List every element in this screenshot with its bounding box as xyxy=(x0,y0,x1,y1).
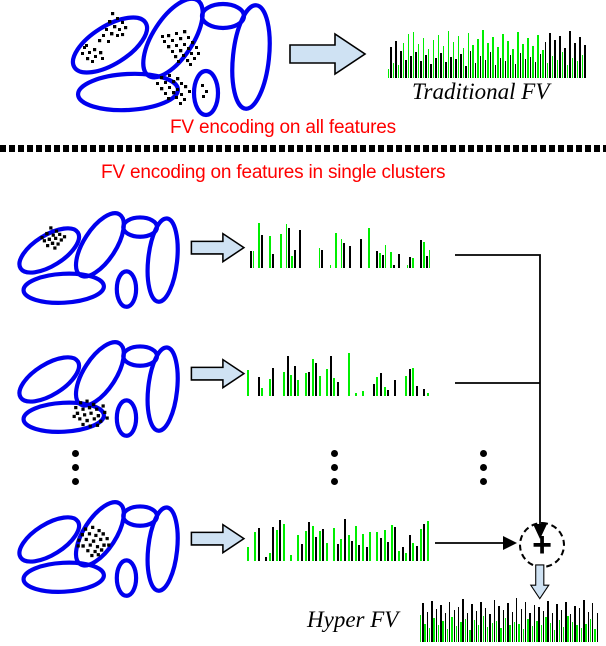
histogram-bar xyxy=(516,598,517,642)
histogram-bar xyxy=(523,629,524,642)
histogram-bar xyxy=(585,624,586,642)
histogram-bar xyxy=(442,621,443,642)
histogram-bar xyxy=(534,605,535,642)
histogram-bar xyxy=(436,609,437,642)
histogram-bar xyxy=(498,606,499,642)
histogram-bar xyxy=(420,615,421,642)
histogram-bar xyxy=(574,606,575,642)
histogram-bar xyxy=(456,626,457,642)
histogram-bar xyxy=(445,613,446,642)
label-hyper-fv: Hyper FV xyxy=(307,607,398,633)
histogram-bar xyxy=(462,599,463,642)
histogram-bar xyxy=(433,618,434,642)
histogram-bar xyxy=(509,625,510,642)
histogram-bar xyxy=(469,630,470,642)
histogram-bar xyxy=(512,612,513,642)
arrowhead-right-icon xyxy=(503,536,517,550)
block-arrow-down-icon xyxy=(522,564,558,600)
plus-circle-icon: + xyxy=(519,522,565,568)
histogram-bar xyxy=(527,619,528,642)
histogram-bar xyxy=(547,601,548,642)
histogram-bar xyxy=(474,620,475,642)
histogram-bar xyxy=(476,611,477,642)
figure-canvas: Traditional FV FV encoding on all featur… xyxy=(0,0,606,646)
histogram-bar xyxy=(438,625,439,642)
histogram-bar xyxy=(536,621,537,642)
histogram-bar xyxy=(538,607,539,642)
histogram-bar xyxy=(429,628,430,642)
histogram-bar xyxy=(590,619,591,642)
histogram-bar xyxy=(561,610,562,642)
histogram-bar xyxy=(529,613,530,642)
histogram-bar xyxy=(565,602,566,642)
histogram-bar xyxy=(579,608,580,642)
histogram-bar xyxy=(559,620,560,642)
histogram-bar xyxy=(532,626,533,642)
histogram-bar xyxy=(563,627,564,642)
histogram-bar xyxy=(541,625,542,642)
histogram-bar xyxy=(422,603,423,642)
histogram-bar xyxy=(431,601,432,642)
histogram-bar xyxy=(505,618,506,642)
histogram-bar xyxy=(458,607,459,642)
histogram-bar xyxy=(503,610,504,642)
histogram-bar xyxy=(594,629,595,642)
histogram-bar xyxy=(507,603,508,642)
histogram-bar xyxy=(487,627,488,642)
histogram-bar xyxy=(465,619,466,642)
histogram-bar xyxy=(494,600,495,642)
histogram-bar xyxy=(480,602,481,642)
histogram-bar xyxy=(478,625,479,642)
histogram-bar xyxy=(597,613,598,642)
connector-lines xyxy=(0,0,606,646)
connector-row-1 xyxy=(455,255,540,524)
histogram-bar xyxy=(556,604,557,642)
histogram-bar xyxy=(518,624,519,642)
histogram-bar xyxy=(554,630,555,642)
histogram-bar xyxy=(483,616,484,642)
histogram-bar xyxy=(485,608,486,642)
histogram-bar xyxy=(427,612,428,642)
histogram-bar xyxy=(592,603,593,642)
histogram-bar xyxy=(492,623,493,642)
histogram-bar xyxy=(500,628,501,642)
histogram-bar xyxy=(576,625,577,642)
histogram-bar xyxy=(550,623,551,642)
histogram-bar xyxy=(545,617,546,642)
histogram-bar xyxy=(581,628,582,642)
histogram-bar xyxy=(449,602,450,642)
histogram-bar xyxy=(543,611,544,642)
histogram-bar xyxy=(514,622,515,642)
histogram-bar xyxy=(521,609,522,642)
histogram-bar xyxy=(588,612,589,642)
histogram-bar xyxy=(454,610,455,642)
histogram-bar xyxy=(424,624,425,642)
histogram-bar xyxy=(467,613,468,642)
histogram-bar xyxy=(572,622,573,642)
histogram-hyper-fv xyxy=(420,596,600,642)
histogram-bar xyxy=(440,605,441,642)
histogram-bar xyxy=(570,614,571,642)
histogram-bar xyxy=(451,617,452,642)
histogram-bar xyxy=(525,602,526,642)
histogram-bar xyxy=(489,614,490,642)
plus-symbol: + xyxy=(532,528,552,562)
histogram-bar xyxy=(567,616,568,642)
histogram-bar xyxy=(496,621,497,642)
histogram-bar xyxy=(447,629,448,642)
histogram-bar xyxy=(460,622,461,642)
histogram-bar xyxy=(471,604,472,642)
histogram-bar xyxy=(583,600,584,642)
histogram-bar xyxy=(552,613,553,642)
